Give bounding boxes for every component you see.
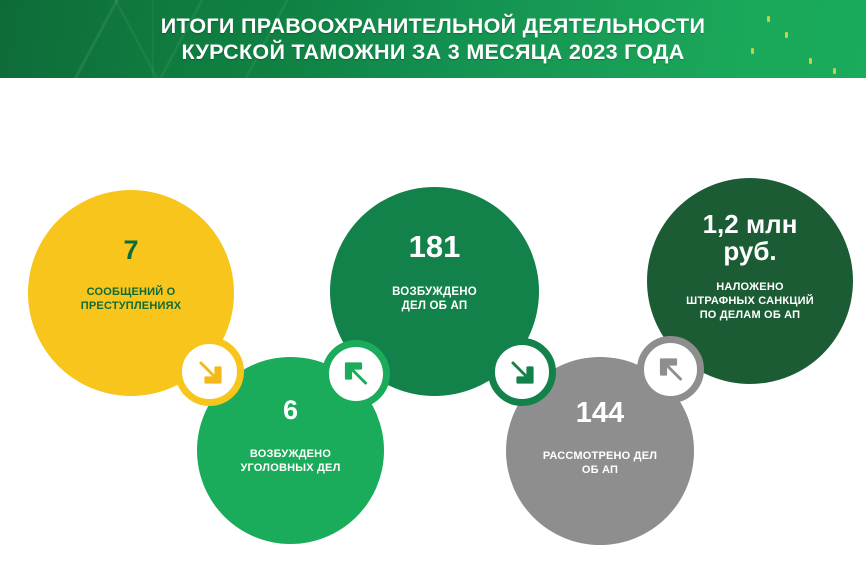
connector-badge-2: [322, 340, 390, 408]
metric-value: 7: [123, 237, 138, 265]
arrow-down-right-icon: [505, 355, 539, 389]
metric-caption: Возбуждено дел об АП: [392, 285, 477, 314]
metric-caption: Сообщений о преступлениях: [81, 285, 181, 313]
arrow-up-right-icon: [339, 357, 373, 391]
arrow-down-right-icon: [193, 355, 227, 389]
page-title-line-2: КУРСКОЙ ТАМОЖНИ ЗА 3 МЕСЯЦА 2023 ГОДА: [181, 40, 684, 64]
page-title: ИТОГИ ПРАВООХРАНИТЕЛЬНОЙ ДЕЯТЕЛЬНОСТИ КУ…: [0, 0, 866, 78]
metric-value: 181: [409, 231, 461, 263]
header-banner: ИТОГИ ПРАВООХРАНИТЕЛЬНОЙ ДЕЯТЕЛЬНОСТИ КУ…: [0, 0, 866, 78]
connector-badge-1: [175, 337, 244, 406]
infographic-poster: ИТОГИ ПРАВООХРАНИТЕЛЬНОЙ ДЕЯТЕЛЬНОСТИ КУ…: [0, 0, 866, 575]
metric-value: 144: [576, 399, 624, 429]
arrow-up-right-icon: [654, 353, 688, 387]
connector-badge-4: [637, 336, 704, 403]
metric-caption: Возбуждено уголовных дел: [240, 447, 340, 475]
metric-value: 6: [283, 397, 298, 425]
page-title-line-1: ИТОГИ ПРАВООХРАНИТЕЛЬНОЙ ДЕЯТЕЛЬНОСТИ: [161, 14, 705, 38]
connector-badge-3: [488, 338, 556, 406]
metric-caption: Рассмотрено дел об АП: [543, 449, 657, 477]
metric-value: 1,2 млн руб.: [703, 211, 798, 264]
metric-caption: Наложено штрафных санкций по делам об АП: [686, 280, 814, 322]
